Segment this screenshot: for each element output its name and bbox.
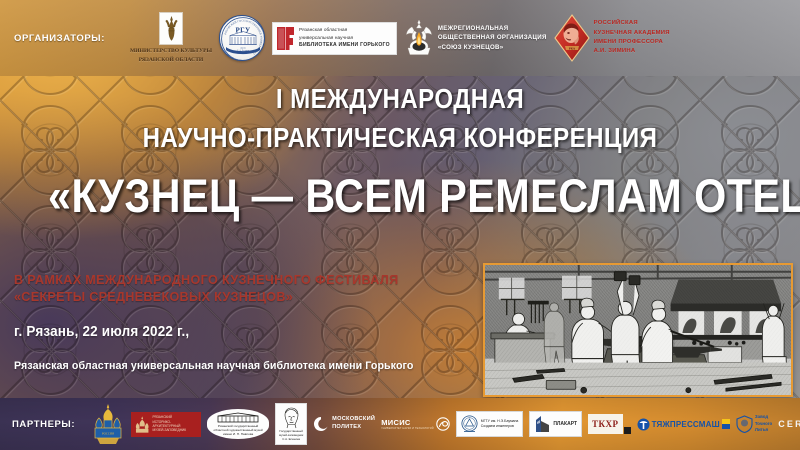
blacksmith-union-emblem-icon — [404, 19, 434, 57]
kremlin-mark-icon — [135, 415, 149, 434]
partner-ryazan-kremlin-emblem: РОССИЯ — [91, 402, 125, 446]
blacksmith-workshop-engraving — [483, 263, 793, 397]
ministry-label: МИНИСТЕРСТВО КУЛЬТУРЫ РЯЗАНСКОЙ ОБЛАСТИ — [130, 47, 212, 63]
svg-text:РКА: РКА — [569, 46, 576, 50]
polytech-label: МОСКОВСКИЙ ПОЛИТЕХ — [332, 416, 375, 432]
plakart-icon — [534, 414, 551, 434]
tyazhpressmash-label: ТЯЖПРЕССМАШ — [652, 420, 720, 429]
partner-plakart: ПЛАКАРТ — [529, 411, 582, 437]
pavlov-museum-label: Рязанский государственный областной худо… — [214, 424, 263, 437]
misis-sublabel: УНИВЕРСИТЕТ НАУКИ И ТЕХНОЛОГИЙ — [381, 427, 433, 430]
partner-ryazan-kremlin-museum: РЯЗАНСКИЙ ИСТОРИКО-АРХИТЕКТУРНЫЙ МУЗЕЙ-З… — [131, 412, 201, 437]
polytech-ring-icon — [313, 416, 329, 432]
kremlin-emblem-text: РОССИЯ — [102, 432, 114, 436]
details-block: В РАМКАХ МЕЖДУНАРОДНОГО КУЗНЕЧНОГО ФЕСТИ… — [14, 272, 484, 372]
organizer-ministry-of-culture: МИНИСТЕРСТВО КУЛЬТУРЫ РЯЗАНСКОЙ ОБЛАСТИ — [130, 12, 212, 63]
library-line2: универсальная научная — [299, 35, 353, 40]
partners-bar: ПАРТНЕРЫ: РОССИЯ — [0, 398, 800, 450]
organizer-russian-blacksmith-academy: РКА РОССИЙСКАЯ КУЗНЕЧНАЯ АКАДЕМИЯ ИМЕНИ … — [554, 14, 670, 62]
festival-line-1: В РАМКАХ МЕЖДУНАРОДНОГО КУЗНЕЧНОГО ФЕСТИ… — [14, 272, 484, 289]
tyazhpressmash-icon — [637, 418, 650, 431]
partner-bauman-mstu: МГТУ им. Н.Э.Баумана Создаем инженеров — [456, 411, 524, 437]
academy-label: РОССИЙСКАЯ КУЗНЕЧНАЯ АКАДЕМИЯ ИМЕНИ ПРОФ… — [594, 19, 670, 57]
pavlov-house-icon — [216, 412, 260, 423]
partner-moscow-polytech: МОСКОВСКИЙ ПОЛИТЕХ — [313, 416, 375, 432]
partners-label: ПАРТНЕРЫ: — [12, 419, 75, 430]
organizer-union-of-blacksmiths: МЕЖРЕГИОНАЛЬНАЯ ОБЩЕСТВЕННАЯ ОРГАНИЗАЦИЯ… — [404, 19, 547, 57]
library-label: Рязанская областнаяуниверсальная научная… — [299, 26, 390, 49]
conference-poster: ОРГАНИЗАТОРЫ: МИНИ — [0, 0, 800, 450]
kremlin-domes-icon: РОССИЯ — [91, 402, 125, 446]
tyazhpressmash-flag-icon — [722, 419, 730, 429]
partner-certa: CERTA — [778, 419, 800, 429]
partner-misis: МИСИС УНИВЕРСИТЕТ НАУКИ И ТЕХНОЛОГИЙ — [381, 417, 449, 431]
city-and-date: г. Рязань, 22 июля 2022 г., — [14, 324, 451, 340]
tkhr-label: ТКХР — [588, 414, 623, 434]
partner-tyazhpressmash: ТЯЖПРЕССМАШ — [637, 418, 730, 431]
yesenin-museum-label: Государственный музей-заповедник С.А. Ес… — [279, 430, 303, 442]
partner-tochlitya-plant: Завод Точного Литья — [736, 414, 772, 433]
organizers-bar: ОРГАНИЗАТОРЫ: МИНИ — [0, 0, 800, 76]
misis-label: МИСИС — [381, 418, 433, 427]
library-line3: БИБЛИОТЕКА ИМЕНИ ГОРЬКОГО — [299, 42, 390, 48]
rgu-seal-icon: РЯЗАНСКИЙ ГОСУДАРСТВЕННЫЙ УНИВЕРСИТЕТ РГ… — [219, 15, 265, 61]
certa-wordmark-icon: CERTA — [778, 419, 800, 429]
bauman-label: МГТУ им. Н.Э.Баумана Создаем инженеров — [481, 419, 519, 429]
organizers-label: ОРГАНИЗАТОРЫ: — [14, 33, 105, 44]
partner-tkhr: ТКХР — [588, 414, 631, 434]
academy-diamond-badge-icon: РКА — [554, 14, 590, 62]
tkhr-square-icon — [624, 427, 631, 434]
tochlitya-label: Завод Точного Литья — [755, 414, 772, 433]
partner-pavlov-museum: Рязанский государственный областной худо… — [207, 409, 269, 439]
partner-yesenin-museum: Государственный музей-заповедник С.А. Ес… — [275, 403, 307, 445]
misis-swirl-icon — [436, 417, 450, 431]
festival-line-2: «СЕКРЕТЫ СРЕДНЕВЕКОВЫХ КУЗНЕЦОВ» — [14, 289, 484, 306]
library-book-icon — [276, 26, 295, 51]
yesenin-portrait-icon — [282, 406, 301, 429]
ministry-crest-icon — [159, 12, 183, 45]
tochlitya-shield-icon — [736, 415, 753, 433]
venue-name: Рязанская областная универсальная научна… — [14, 360, 461, 372]
library-line1: Рязанская областная — [299, 27, 347, 32]
svg-text:С. А. Есенина: С. А. Есенина — [237, 49, 249, 52]
plakart-label: ПЛАКАРТ — [553, 421, 577, 428]
bauman-seal-icon — [461, 415, 478, 434]
organizer-ryazan-state-university: РЯЗАНСКИЙ ГОСУДАРСТВЕННЫЙ УНИВЕРСИТЕТ РГ… — [219, 15, 265, 61]
organizer-gorky-library: Рязанская областнаяуниверсальная научная… — [272, 22, 397, 55]
kremlin-museum-label: РЯЗАНСКИЙ ИСТОРИКО-АРХИТЕКТУРНЫЙ МУЗЕЙ-З… — [153, 415, 198, 432]
union-label: МЕЖРЕГИОНАЛЬНАЯ ОБЩЕСТВЕННАЯ ОРГАНИЗАЦИЯ… — [438, 24, 547, 53]
